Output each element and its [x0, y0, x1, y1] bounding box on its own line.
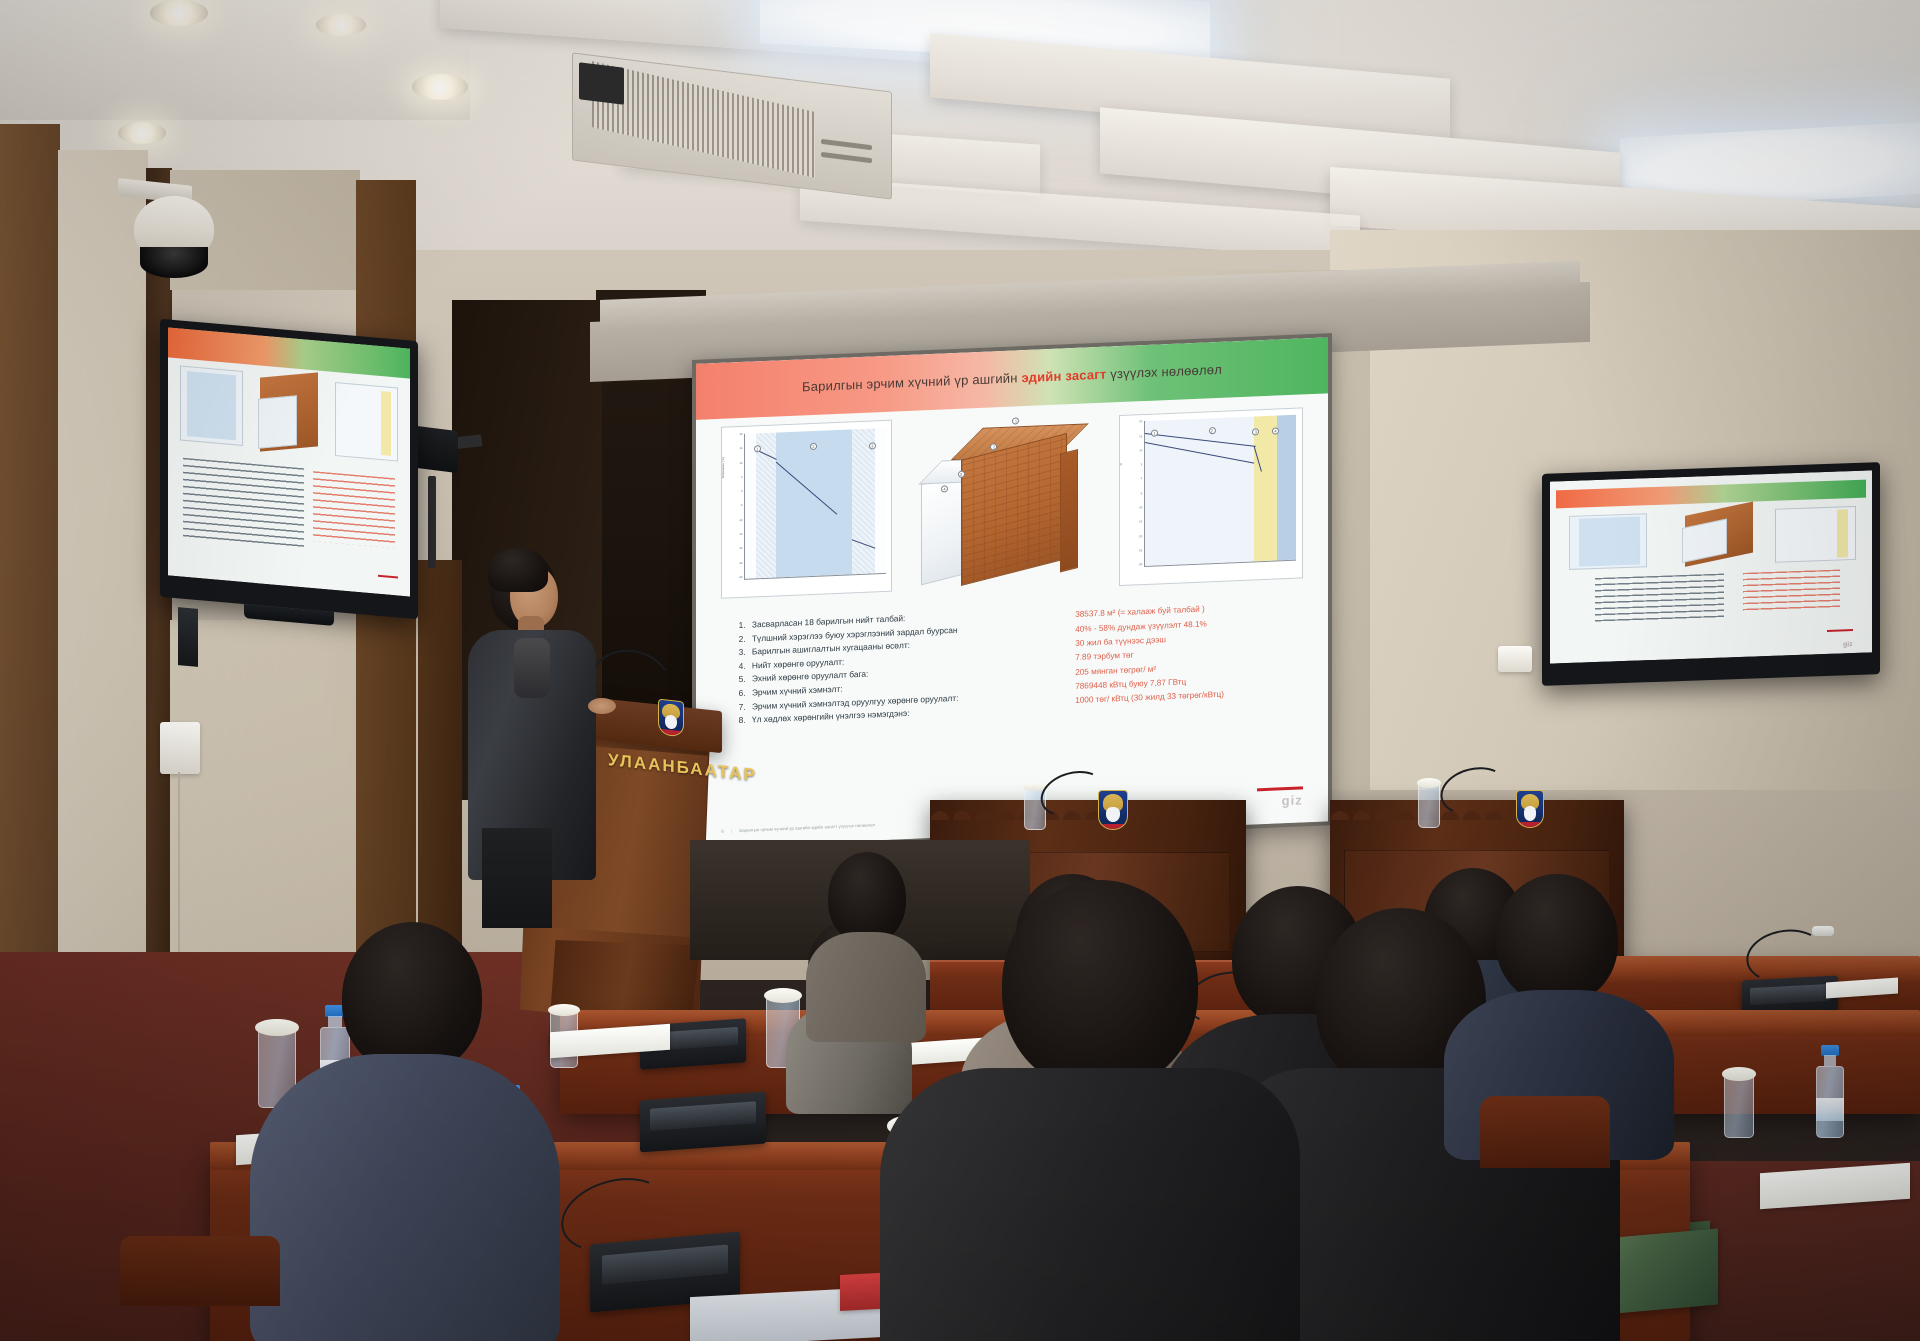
slide-page-number: 8 [721, 829, 723, 834]
insulated-brick-wall-3d: 1 2 3 4 [917, 407, 1100, 595]
delegate-microphone-head [1812, 926, 1834, 936]
chart-right-temperature-gradient: °C 20151050-5 -10-15-20-25-30 [1119, 407, 1302, 586]
presenter-shirt [514, 638, 550, 698]
slide-bullet-list: Засварласан 18 барилгын нийт талбай: Түл… [734, 605, 1063, 728]
chart-left-yticks: 20151050-5 -10-15-20-25-30 [726, 434, 743, 580]
chart-node-2: 2 [810, 442, 817, 449]
water-glass [1724, 1076, 1754, 1138]
audience-member [880, 1058, 1300, 1341]
wall-phone-panel[interactable] [160, 722, 200, 774]
slide-title: Барилгын эрчим хүчний үр ашгийн эдийн за… [802, 362, 1222, 395]
chart-right-ylabel: °C [1119, 463, 1123, 466]
chart-node-1: 1 [754, 445, 761, 452]
monitor-left-mount [178, 607, 198, 667]
diagram-callout-1: 1 [1012, 417, 1019, 424]
water-glass [1418, 784, 1440, 828]
water-bottle [1816, 1046, 1844, 1138]
diagram-callout-3: 3 [958, 470, 965, 477]
chair-back [1480, 1096, 1610, 1168]
giz-wordmark: giz [1257, 792, 1303, 809]
chart-right-plot: 1 2 3 4 [1144, 415, 1296, 567]
wall-panel [58, 150, 148, 1030]
presenter-legs [482, 828, 552, 928]
conference-microphone-unit[interactable] [640, 1092, 766, 1153]
audience-member [250, 922, 560, 1341]
projector-mount-pole [428, 476, 436, 568]
slide-values-column: 38537.8 м² (= халааж буй талбай ) 40% - … [1075, 598, 1321, 709]
chart-left-ylabel: Temperature (°C) [721, 457, 725, 479]
downlight [316, 14, 366, 36]
chart-node-3: 3 [869, 443, 876, 450]
wall-monitor-right[interactable]: giz [1542, 462, 1880, 686]
wall-wood-left [0, 124, 60, 1004]
audience-member [1444, 874, 1674, 1134]
monitor-right-slide: giz [1550, 470, 1872, 663]
lectern-right-emblem [1516, 790, 1544, 828]
chart-left-temperature-gradient: Temperature (°C) 20151050-5 -10-15-20-25… [721, 420, 892, 598]
audience-member [806, 852, 926, 1032]
chart-left-plot: 1 2 3 [744, 428, 886, 580]
chair-back [120, 1236, 280, 1306]
presenter-hand [588, 698, 616, 714]
slide-footer-text: Барилгын эрчим хүчний үр ашгийн эдийн за… [739, 822, 875, 833]
downlight [150, 0, 208, 26]
giz-red-bar [1257, 786, 1303, 791]
downlight [118, 122, 166, 144]
chart-node-2: 2 [1209, 427, 1216, 434]
camera-lens [140, 247, 207, 277]
projection-screen: Барилгын эрчим хүчний үр ашгийн эдийн за… [692, 333, 1332, 852]
chart-right-yticks: 20151050-5 -10-15-20-25-30 [1124, 421, 1142, 567]
conference-hall-photo: Барилгын эрчим хүчний үр ашгийн эдийн за… [0, 0, 1920, 1341]
ceiling-ac-cassette [572, 52, 892, 199]
ptz-dome-security-camera [134, 196, 214, 262]
presenter-hair-top [488, 548, 548, 592]
presentation-slide: Барилгын эрчим хүчний үр ашгийн эдийн за… [696, 337, 1328, 847]
giz-logo: giz [1257, 786, 1303, 809]
wall-monitor-left[interactable] [160, 319, 418, 620]
wall-intercom-panel[interactable] [1498, 646, 1532, 672]
downlight [412, 74, 468, 100]
monitor-left-slide [168, 327, 410, 596]
